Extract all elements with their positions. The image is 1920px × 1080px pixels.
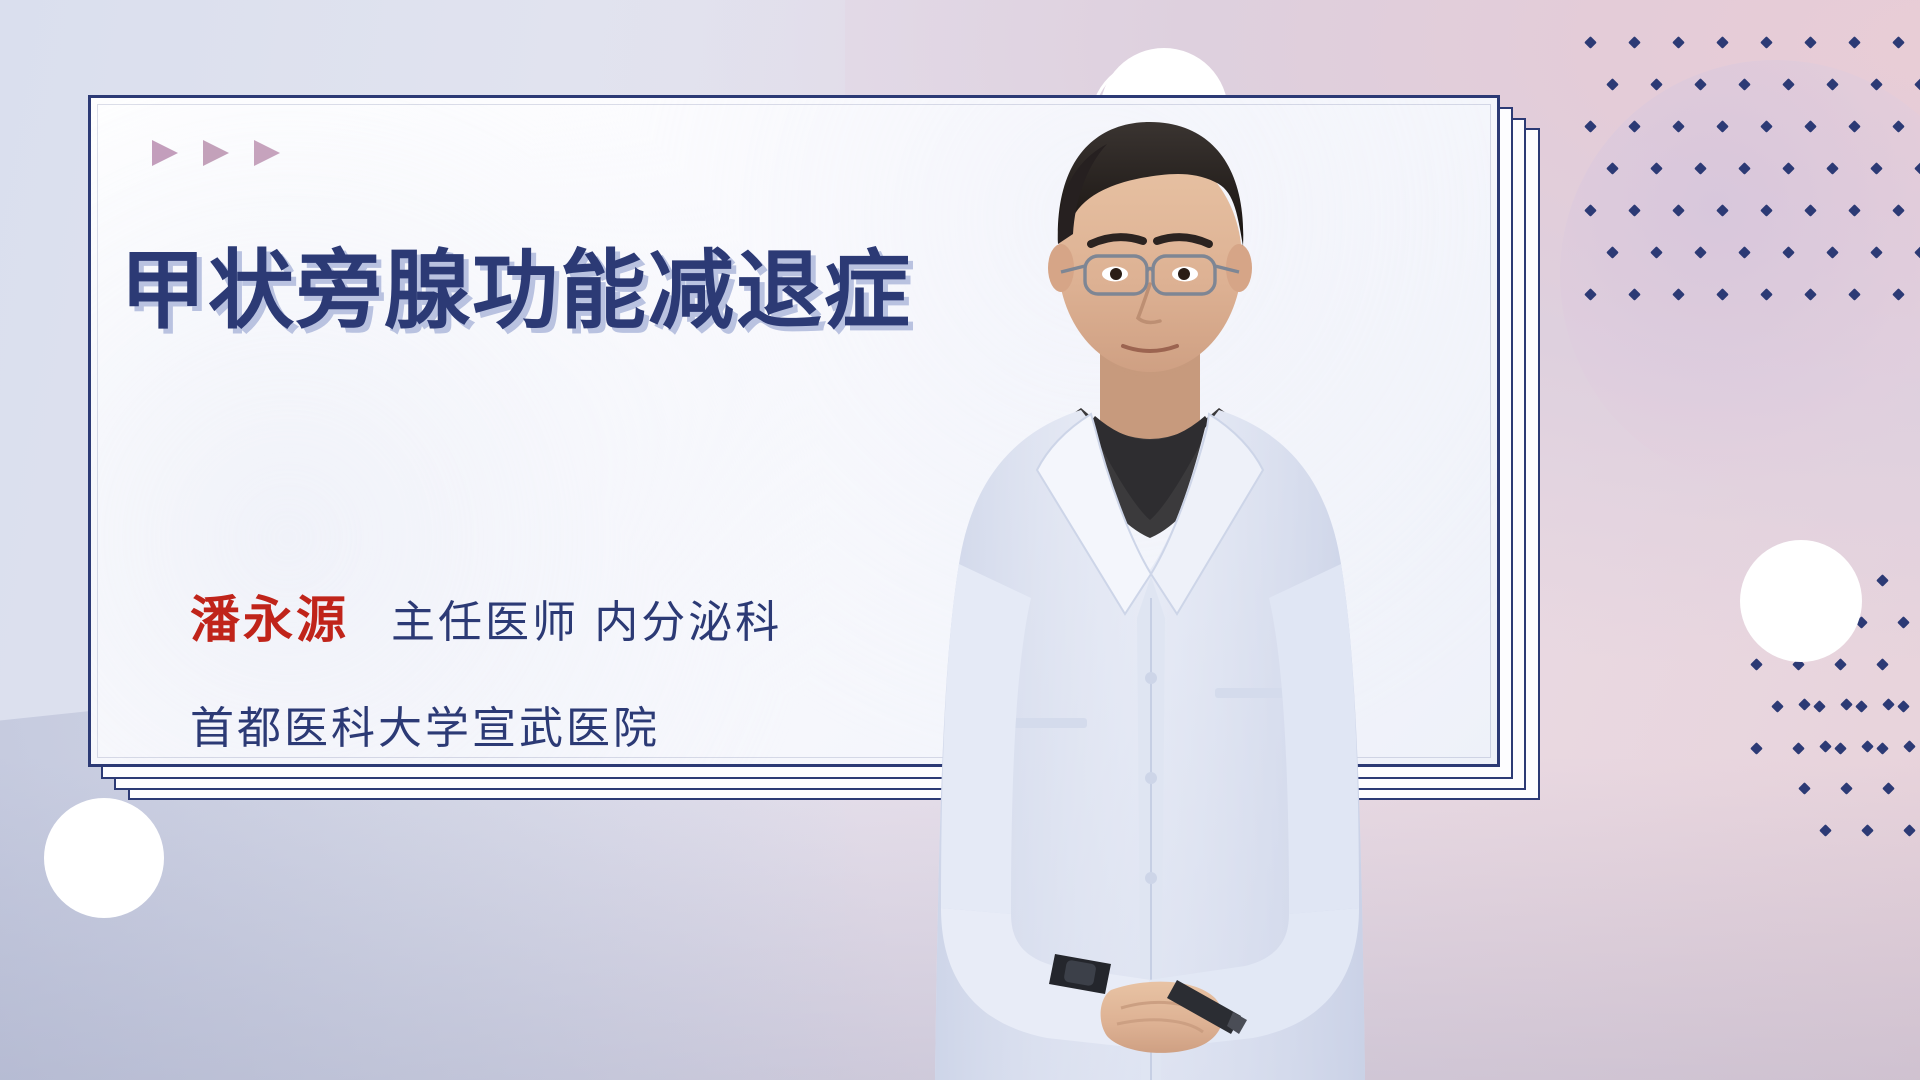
- arrow-3-icon: [254, 140, 280, 166]
- arrow-decoration-group: [152, 140, 280, 166]
- arrow-2-icon: [203, 140, 229, 166]
- ring-mid-right: [1740, 540, 1862, 662]
- affiliation-text: 首都医科大学宣武医院: [190, 692, 660, 756]
- doctor-portrait: [915, 78, 1385, 1080]
- arrow-1-icon: [152, 140, 178, 166]
- disc-bottom-left: [44, 798, 164, 918]
- presenter-line: 潘永源 主任医师 内分泌科: [190, 580, 782, 652]
- doctor-illustration: [915, 78, 1385, 1080]
- presenter-role: 主任医师 内分泌科: [391, 586, 782, 650]
- presenter-name: 潘永源: [190, 580, 349, 652]
- dot-grid-bottom-right: [1800, 700, 1920, 868]
- page-title: 甲状旁腺功能减退症: [120, 244, 1040, 339]
- dot-grid-top-right: [1586, 38, 1920, 332]
